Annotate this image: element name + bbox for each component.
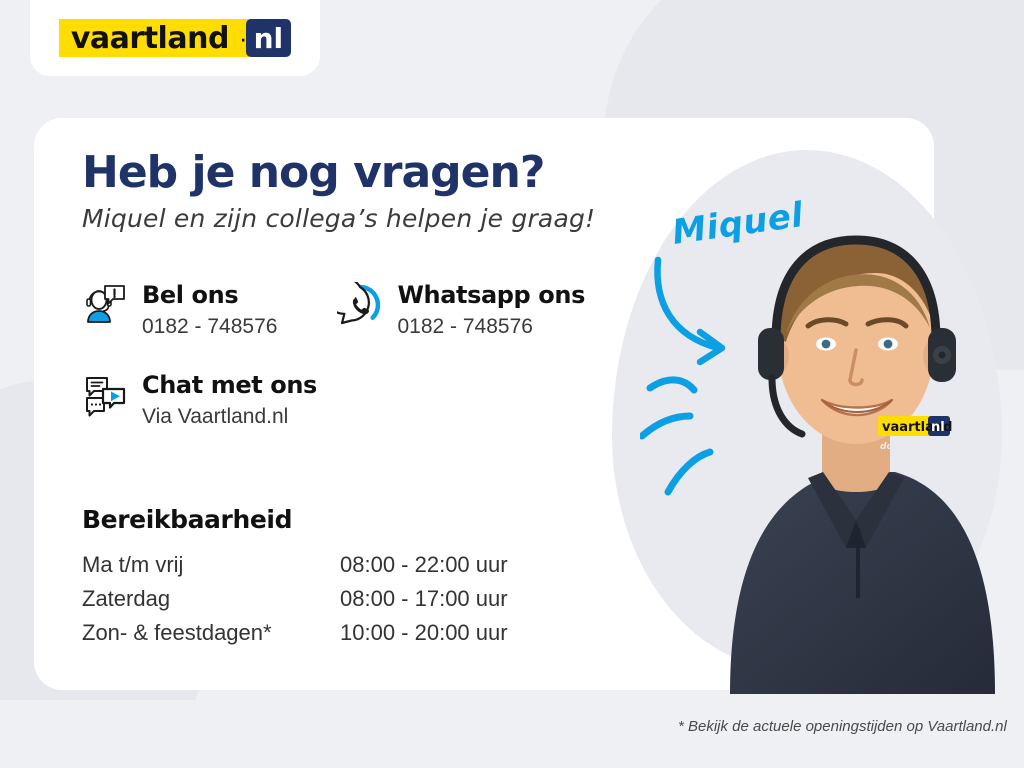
logo-tld: nl (246, 19, 292, 57)
contact-title-chat: Chat met ons (142, 372, 317, 400)
page-title: Heb je nog vragen? (82, 150, 642, 196)
contact-title-whatsapp: Whatsapp ons (397, 282, 584, 310)
table-row: Ma t/m vrij 08:00 - 22:00 uur (82, 548, 508, 582)
whatsapp-icon (337, 282, 383, 328)
contact-detail-call: 0182 - 748576 (142, 315, 277, 339)
logo-wordmark: vaartland (59, 19, 239, 57)
svg-text:doe jezelf een plezier: doe jezelf een plezier (880, 442, 989, 452)
chat-bubbles-icon (82, 372, 128, 418)
hours-day: Ma t/m vrij (82, 548, 340, 582)
table-row: Zaterdag 08:00 - 17:00 uur (82, 582, 508, 616)
contact-detail-whatsapp: 0182 - 748576 (397, 315, 584, 339)
hours-day: Zon- & feestdagen* (82, 616, 340, 650)
poster-canvas: vaartland · nl Heb je nog vragen? Miquel… (0, 0, 1024, 768)
availability-section: Bereikbaarheid Ma t/m vrij 08:00 - 22:00… (82, 505, 508, 650)
page-subtitle: Miquel en zijn collega’s helpen je graag… (82, 204, 642, 233)
contact-title-call: Bel ons (142, 282, 277, 310)
contact-item-call[interactable]: Bel ons 0182 - 748576 (82, 282, 277, 339)
agent-photo: vaartland nl doe jezelf een plezier (690, 128, 1010, 694)
headset-person-icon (82, 282, 128, 328)
hero-text-block: Heb je nog vragen? Miquel en zijn colleg… (82, 150, 642, 233)
availability-title: Bereikbaarheid (82, 505, 508, 534)
contact-detail-chat: Via Vaartland.nl (142, 405, 317, 429)
contact-methods-row: Bel ons 0182 - 748576 Whatsapp ons 0182 … (82, 282, 662, 339)
table-row: Zon- & feestdagen* 10:00 - 20:00 uur (82, 616, 508, 650)
hours-time: 10:00 - 20:00 uur (340, 616, 508, 650)
logo-card: vaartland · nl (30, 0, 320, 76)
hours-time: 08:00 - 17:00 uur (340, 582, 508, 616)
availability-table: Ma t/m vrij 08:00 - 22:00 uur Zaterdag 0… (82, 548, 508, 650)
contact-item-chat[interactable]: Chat met ons Via Vaartland.nl (82, 372, 317, 429)
vaartland-logo[interactable]: vaartland · nl (59, 19, 291, 57)
svg-text:nl: nl (931, 420, 945, 435)
hours-time: 08:00 - 22:00 uur (340, 548, 508, 582)
hours-day: Zaterdag (82, 582, 340, 616)
footnote-text: * Bekijk de actuele openingstijden op Va… (678, 718, 1007, 735)
contact-item-whatsapp[interactable]: Whatsapp ons 0182 - 748576 (337, 282, 584, 339)
